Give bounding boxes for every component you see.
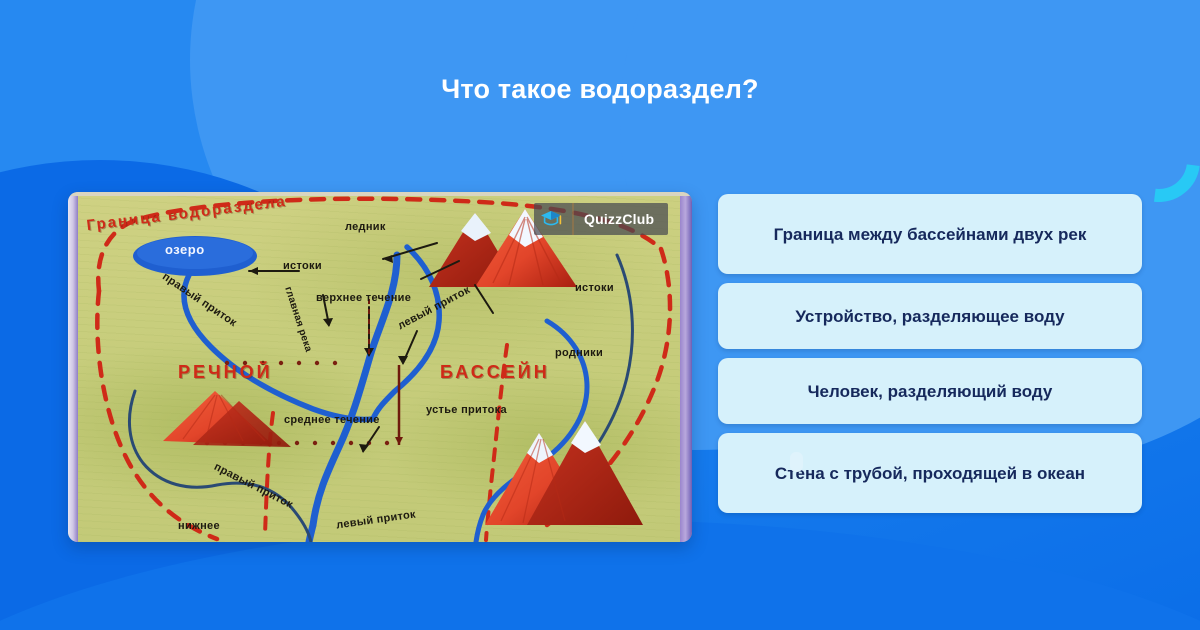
answer-list-notch	[790, 452, 803, 472]
question-illustration: Граница водораздела озеро ледник истоки …	[68, 192, 692, 542]
answer-option-2-label: Устройство, разделяющее воду	[744, 304, 1116, 329]
illustration-canvas: Граница водораздела озеро ледник истоки …	[68, 192, 692, 542]
badge-divider	[572, 203, 574, 235]
brand-badge[interactable]: QuizzClub	[534, 203, 668, 235]
photo-edge-top	[68, 192, 692, 196]
answer-option-1-label: Граница между бассейнами двух рек	[744, 222, 1116, 247]
photo-edge-left	[68, 192, 78, 542]
river-basin-diagram	[77, 195, 681, 542]
page-title: Что такое водораздел?	[0, 72, 1200, 106]
brand-name: QuizzClub	[584, 211, 654, 227]
graduation-cap-icon	[534, 203, 568, 235]
answer-option-1[interactable]: Граница между бассейнами двух рек	[718, 194, 1142, 274]
quiz-slide: Что такое водораздел?	[0, 0, 1200, 630]
answer-list: Граница между бассейнами двух рек Устрой…	[718, 194, 1142, 513]
answer-option-3-label: Человек, разделяющий воду	[744, 379, 1116, 404]
answer-option-3[interactable]: Человек, разделяющий воду	[718, 358, 1142, 424]
photo-edge-right	[680, 192, 692, 542]
answer-option-4[interactable]: Стена с трубой, проходящей в океан	[718, 433, 1142, 513]
answer-option-2[interactable]: Устройство, разделяющее воду	[718, 283, 1142, 349]
